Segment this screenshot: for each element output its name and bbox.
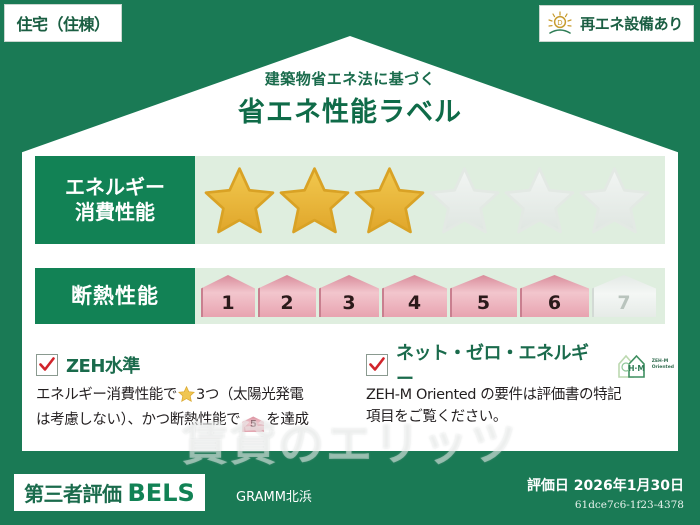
energy-label-line1: エネルギー <box>65 175 165 200</box>
star-icon-empty <box>503 165 576 235</box>
zeh-m-caption-line2: Oriented <box>652 365 674 371</box>
insulation-level-scale: 1234567 <box>195 268 665 324</box>
insulation-level-number: 5 <box>477 292 490 314</box>
insulation-level-1: 1 <box>201 275 255 317</box>
inline-house-number: 5 <box>250 419 257 430</box>
star-icon-filled <box>353 165 426 235</box>
energy-label-line2: 消費性能 <box>75 200 155 225</box>
insulation-level-7: 7 <box>592 275 656 317</box>
energy-performance-value <box>195 156 665 244</box>
zeh-standard-heading-row: ZEH水準 <box>36 352 346 378</box>
energy-performance-label-box: エネルギー 消費性能 <box>35 156 195 244</box>
insulation-level-number: 7 <box>617 292 630 314</box>
insulation-level-5: 5 <box>450 275 517 317</box>
insulation-level-number: 3 <box>342 292 355 314</box>
inline-house-level-icon: 5 <box>242 416 264 432</box>
building-name: GRAMM北浜 <box>236 486 312 505</box>
svg-text:D: D <box>557 19 562 27</box>
insulation-level-number: 1 <box>221 292 234 314</box>
zeh-standard-checkbox <box>36 354 58 376</box>
insulation-level-6: 6 <box>520 275 589 317</box>
energy-performance-row: エネルギー 消費性能 <box>35 156 665 244</box>
category-tag: 住宅（住棟） <box>4 4 122 42</box>
net-zero-heading-row: ネット・ゼロ・エネルギー H·M ZEH-M Oriented <box>366 352 674 378</box>
net-zero-description: ZEH-M Oriented の要件は評価書の特記 項目をご覧ください。 <box>366 384 674 429</box>
page-title: 省エネ性能ラベル <box>0 90 700 129</box>
insulation-level-2: 2 <box>258 275 316 317</box>
insulation-level-3: 3 <box>319 275 379 317</box>
evaluation-date: 評価日 2026年1月30日 <box>527 475 684 495</box>
net-zero-energy-block: ネット・ゼロ・エネルギー H·M ZEH-M Oriented ZEH-M Or… <box>366 352 674 429</box>
insulation-level-number: 6 <box>548 292 561 314</box>
zeh-standard-title: ZEH水準 <box>66 352 140 378</box>
zeh-desc-part2: は考慮しない）、かつ断熱性能で <box>36 412 240 428</box>
renewable-energy-badge: D 再エネ設備あり <box>539 5 694 42</box>
bels-jp-label: 第三者評価 <box>24 478 122 507</box>
renewable-badge-label: 再エネ設備あり <box>580 13 683 34</box>
insulation-level-number: 4 <box>408 292 421 314</box>
net-zero-checkbox <box>366 354 388 376</box>
insulation-level-number: 2 <box>280 292 293 314</box>
solar-sun-icon: D <box>546 11 574 37</box>
net-zero-desc-line1: ZEH-M Oriented の要件は評価書の特記 <box>366 387 621 403</box>
zeh-desc-star-count: 3つ（太陽光発電 <box>196 387 304 403</box>
star-icon-filled <box>203 165 276 235</box>
bels-en-label: BELS <box>128 479 195 507</box>
star-icon-empty <box>578 165 651 235</box>
label-subtitle: 建築物省エネ法に基づく <box>0 68 700 89</box>
zeh-standard-block: ZEH水準 エネルギー消費性能で3つ（太陽光発電 は考慮しない）、かつ断熱性能で… <box>36 352 346 432</box>
net-zero-desc-line2: 項目をご覧ください。 <box>366 409 507 425</box>
bels-certification-box: 第三者評価 BELS <box>14 474 205 511</box>
zeh-desc-part1: エネルギー消費性能で <box>36 387 177 403</box>
zeh-desc-part3: を達成 <box>266 412 308 428</box>
insulation-level-4: 4 <box>382 275 447 317</box>
inline-star-icon <box>178 390 195 406</box>
star-icon-filled <box>278 165 351 235</box>
star-rating <box>203 165 651 235</box>
star-icon-empty <box>428 165 501 235</box>
energy-performance-label: 住宅（住棟） D 再エネ設備あり 建築物省エネ法に基づく 省エネ性 <box>0 0 700 525</box>
insulation-performance-label-box: 断熱性能 <box>35 268 195 324</box>
insulation-performance-row: 断熱性能 1234567 <box>35 268 665 324</box>
zeh-m-oriented-logo: H·M ZEH-M Oriented <box>616 352 674 379</box>
evaluation-id: 61dce7c6-1f23-4378 <box>575 499 684 511</box>
zeh-standard-description: エネルギー消費性能で3つ（太陽光発電 は考慮しない）、かつ断熱性能で5を達成 <box>36 384 346 432</box>
zeh-m-logo-mark: H·M <box>628 364 645 373</box>
